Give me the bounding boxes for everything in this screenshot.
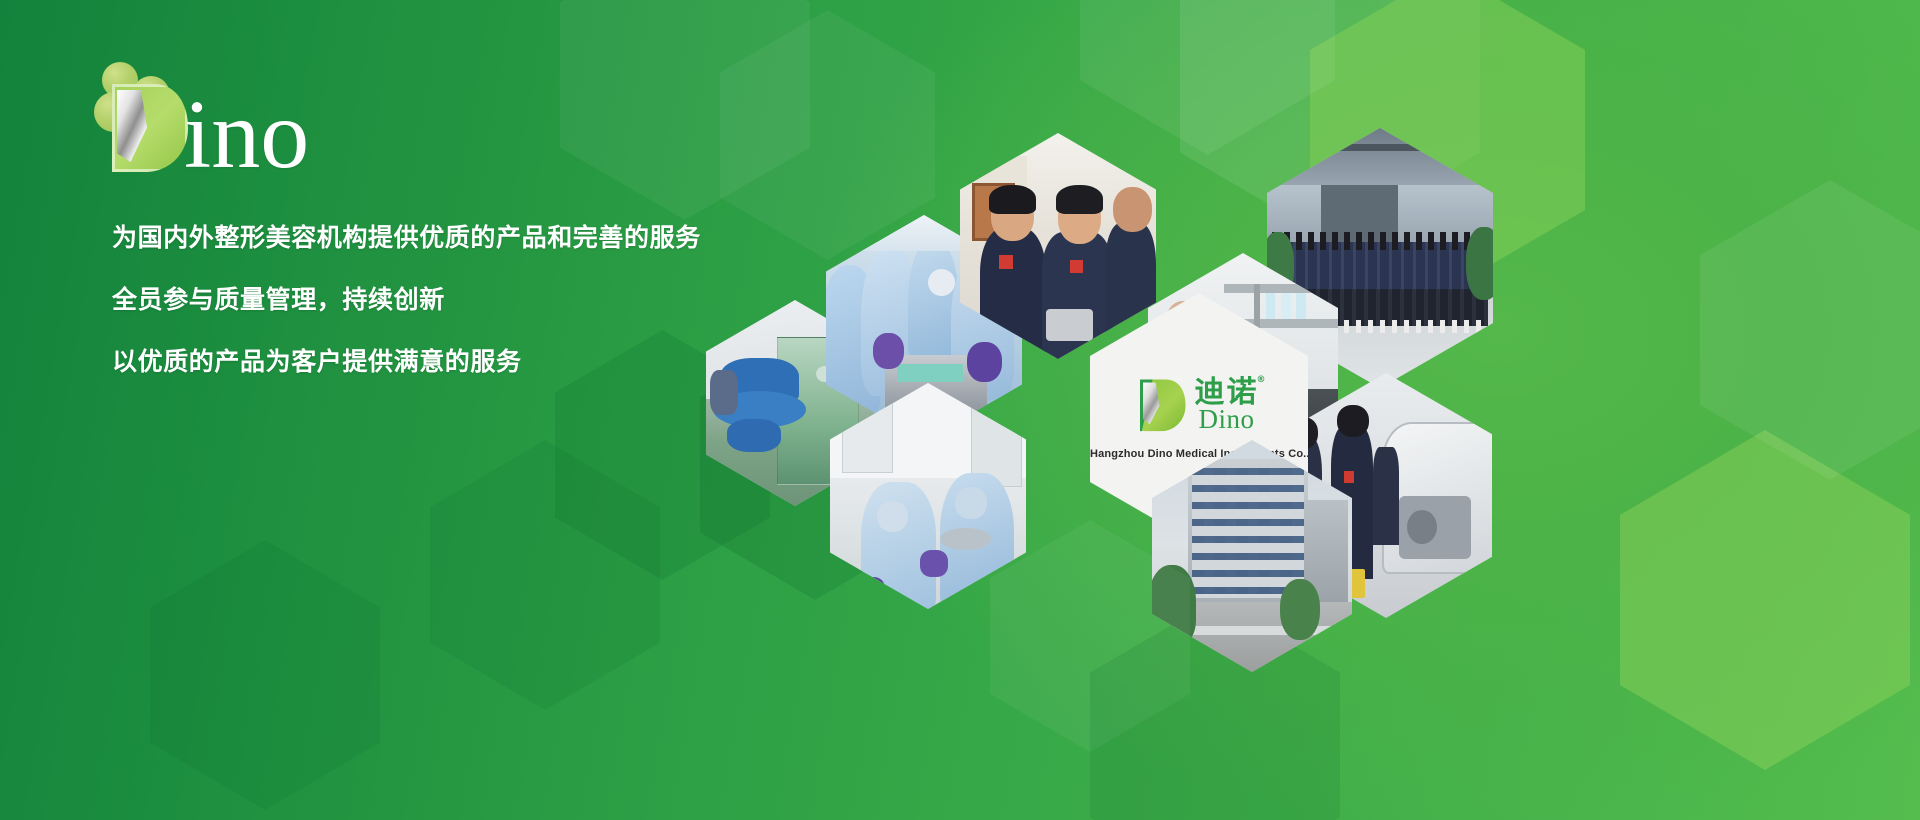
decorative-hexagon-13 — [990, 520, 1190, 752]
tagline-1: 为国内外整形美容机构提供优质的产品和完善的服务 — [112, 218, 701, 254]
tagline-2: 全员参与质量管理，持续创新 — [112, 280, 701, 316]
decorative-hexagon-5 — [1080, 0, 1335, 155]
center-logo-english: Dino — [1195, 407, 1259, 433]
decorative-hexagon-11 — [150, 540, 380, 810]
decorative-hexagon-12 — [430, 440, 660, 710]
dino-leaf-mark-icon — [1140, 379, 1186, 431]
decorative-hexagon-9 — [1620, 430, 1910, 770]
center-logo-chinese: 迪诺® — [1195, 378, 1259, 408]
center-logo-row: 迪诺® Dino — [1090, 378, 1308, 433]
decorative-hexagon-2 — [720, 10, 935, 260]
dino-leaf-icon — [112, 84, 188, 172]
tagline-list: 为国内外整形美容机构提供优质的产品和完善的服务 全员参与质量管理，持续创新 以优… — [112, 218, 701, 378]
brand-wordmark: ino — [184, 86, 309, 184]
trademark-symbol: ® — [1257, 376, 1268, 385]
decorative-hexagon-10 — [1700, 180, 1920, 480]
brand-logo: ino — [88, 62, 508, 182]
hero-banner: ino 为国内外整形美容机构提供优质的产品和完善的服务 全员参与质量管理，持续创… — [0, 0, 1920, 820]
tagline-3: 以优质的产品为客户提供满意的服务 — [112, 342, 701, 378]
